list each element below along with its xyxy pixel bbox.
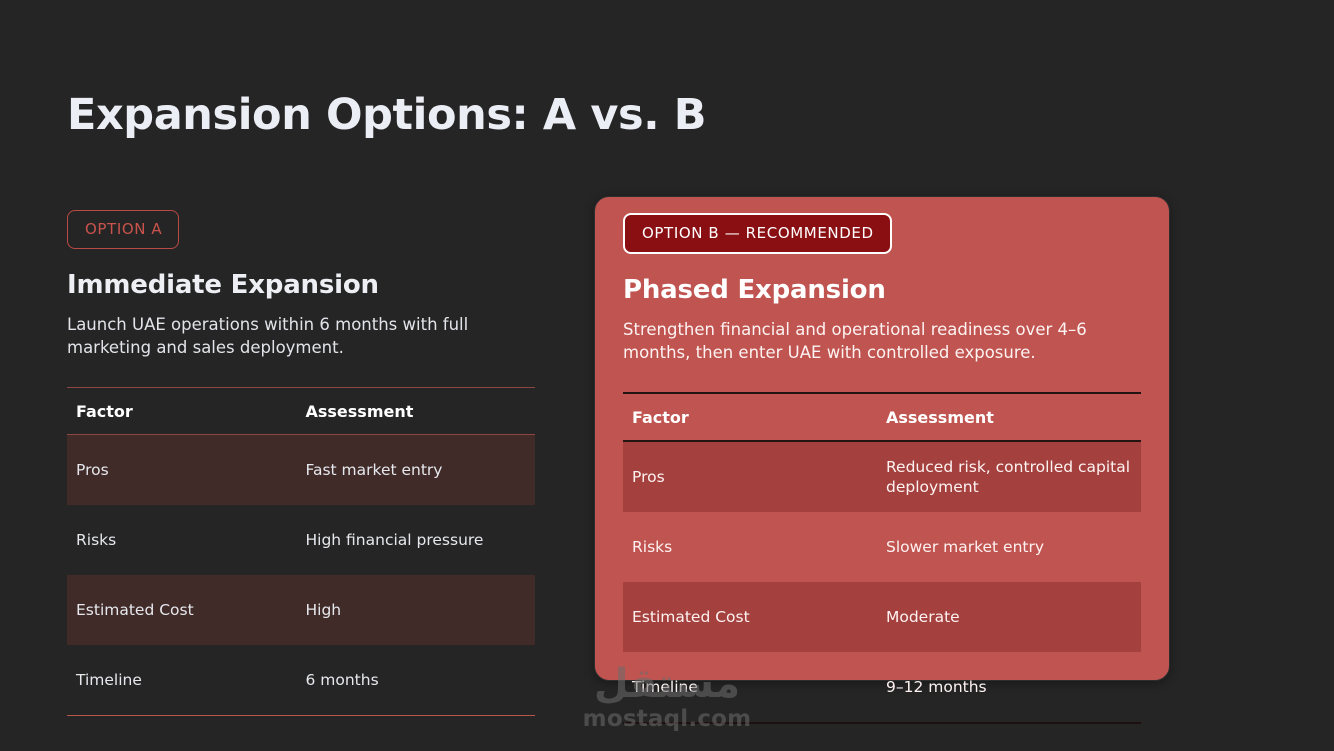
option-a-column: OPTION A Immediate Expansion Launch UAE … xyxy=(67,196,535,716)
table-row: Timeline 6 months xyxy=(67,645,535,716)
option-a-table: Factor Assessment Pros Fast market entry… xyxy=(67,387,535,716)
table-header-row: Factor Assessment xyxy=(623,393,1141,441)
column-header-assessment: Assessment xyxy=(296,388,535,435)
cell-factor: Risks xyxy=(623,512,877,582)
cell-factor: Timeline xyxy=(623,652,877,723)
table-row: Pros Reduced risk, controlled capital de… xyxy=(623,441,1141,512)
option-b-card: OPTION B — RECOMMENDED Phased Expansion … xyxy=(594,196,1170,681)
option-a-badge: OPTION A xyxy=(67,210,179,249)
table-header-row: Factor Assessment xyxy=(67,388,535,435)
option-a-subtitle: Launch UAE operations within 6 months wi… xyxy=(67,314,497,360)
cell-assessment: High xyxy=(296,575,535,645)
cell-assessment: Moderate xyxy=(877,582,1141,652)
cell-factor: Estimated Cost xyxy=(623,582,877,652)
cell-assessment: Reduced risk, controlled capital deploym… xyxy=(877,441,1141,512)
column-header-assessment: Assessment xyxy=(877,393,1141,441)
cell-factor: Risks xyxy=(67,505,296,575)
cell-assessment: Fast market entry xyxy=(296,435,535,506)
table-row: Estimated Cost Moderate xyxy=(623,582,1141,652)
cell-assessment: High financial pressure xyxy=(296,505,535,575)
table-row: Risks Slower market entry xyxy=(623,512,1141,582)
option-b-badge: OPTION B — RECOMMENDED xyxy=(623,213,892,254)
option-a-heading: Immediate Expansion xyxy=(67,271,535,301)
cell-assessment: 6 months xyxy=(296,645,535,716)
option-b-subtitle: Strengthen financial and operational rea… xyxy=(623,319,1141,365)
cell-assessment: 9–12 months xyxy=(877,652,1141,723)
table-row: Timeline 9–12 months xyxy=(623,652,1141,723)
column-header-factor: Factor xyxy=(623,393,877,441)
cell-factor: Estimated Cost xyxy=(67,575,296,645)
page-title: Expansion Options: A vs. B xyxy=(67,92,706,139)
cell-factor: Pros xyxy=(67,435,296,506)
table-row: Estimated Cost High xyxy=(67,575,535,645)
option-b-heading: Phased Expansion xyxy=(623,276,1141,306)
slide-canvas: Expansion Options: A vs. B OPTION A Imme… xyxy=(0,0,1334,751)
option-b-table: Factor Assessment Pros Reduced risk, con… xyxy=(623,392,1141,724)
cell-assessment: Slower market entry xyxy=(877,512,1141,582)
cell-factor: Pros xyxy=(623,441,877,512)
cell-factor: Timeline xyxy=(67,645,296,716)
table-row: Pros Fast market entry xyxy=(67,435,535,506)
column-header-factor: Factor xyxy=(67,388,296,435)
table-row: Risks High financial pressure xyxy=(67,505,535,575)
